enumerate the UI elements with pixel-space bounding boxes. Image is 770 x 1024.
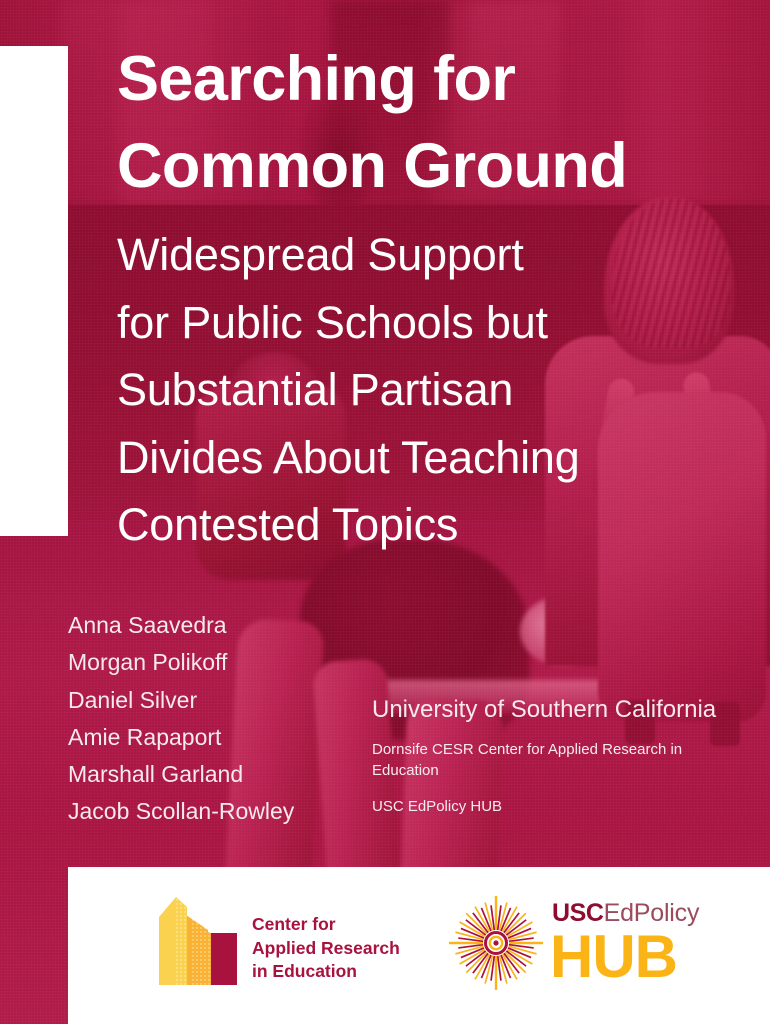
title-line-1: Searching for bbox=[117, 36, 737, 123]
open-book-building-icon bbox=[156, 895, 240, 987]
subtitle-line-2: for Public Schools but bbox=[117, 289, 717, 357]
usc-edpolicy-hub-logo[interactable]: USCEdPolicy HUB bbox=[448, 891, 768, 995]
cesr-text-line-2: Applied Research bbox=[252, 937, 400, 961]
author-name: Anna Saavedra bbox=[68, 607, 294, 644]
author-name: Marshall Garland bbox=[68, 756, 294, 793]
logo-row: Center for Applied Research in Education bbox=[68, 867, 770, 1024]
footer-logo-bar: Center for Applied Research in Education bbox=[68, 867, 770, 1024]
author-list: Anna Saavedra Morgan Polikoff Daniel Sil… bbox=[68, 607, 294, 831]
cesr-text-line-3: in Education bbox=[252, 960, 400, 984]
subtitle-line-4: Divides About Teaching bbox=[117, 424, 717, 492]
affiliation-program: USC EdPolicy HUB bbox=[372, 796, 716, 817]
photo-backpack-pocket bbox=[622, 560, 742, 678]
report-cover: Searching for Common Ground Widespread S… bbox=[0, 0, 770, 1024]
author-name: Daniel Silver bbox=[68, 682, 294, 719]
author-name: Morgan Polikoff bbox=[68, 644, 294, 681]
cesr-text-line-1: Center for bbox=[252, 913, 400, 937]
subtitle-line-3: Substantial Partisan bbox=[117, 356, 717, 424]
author-name: Jacob Scollan-Rowley bbox=[68, 793, 294, 830]
subtitle-line-1: Widespread Support bbox=[117, 221, 717, 289]
white-accent-rectangle bbox=[0, 46, 68, 536]
cesr-logo[interactable]: Center for Applied Research in Education bbox=[156, 895, 486, 991]
page-title: Searching for Common Ground bbox=[117, 36, 737, 210]
sunburst-hub-icon bbox=[448, 895, 544, 991]
affiliation-university: University of Southern California bbox=[372, 694, 716, 725]
hub-logo-hub-word: HUB bbox=[550, 927, 677, 987]
author-name: Amie Rapaport bbox=[68, 719, 294, 756]
title-line-2: Common Ground bbox=[117, 123, 737, 210]
subtitle-line-5: Contested Topics bbox=[117, 491, 717, 559]
page-subtitle: Widespread Support for Public Schools bu… bbox=[117, 221, 717, 559]
affiliation-department: Dornsife CESR Center for Applied Researc… bbox=[372, 739, 692, 782]
cesr-logo-text: Center for Applied Research in Education bbox=[252, 913, 400, 984]
affiliation-block: University of Southern California Dornsi… bbox=[372, 694, 716, 817]
